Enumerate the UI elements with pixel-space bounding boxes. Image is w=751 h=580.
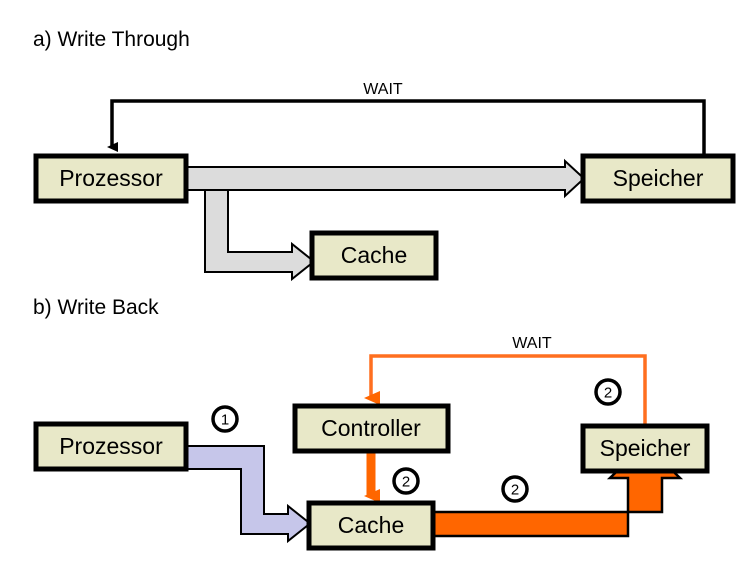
section-a-group: a) Write Through WAIT Prozessor bbox=[33, 28, 733, 279]
wait-a-line bbox=[112, 101, 704, 155]
wait-b-label: WAIT bbox=[512, 335, 552, 352]
prozessor-a-label: Prozessor bbox=[59, 165, 163, 191]
edge-prozessor-to-cache-a bbox=[186, 190, 314, 279]
node-speicher-a[interactable]: Speicher bbox=[583, 156, 733, 201]
cache-b-label: Cache bbox=[338, 512, 404, 538]
controller-b-label: Controller bbox=[321, 415, 421, 441]
node-speicher-b[interactable]: Speicher bbox=[583, 426, 707, 471]
step-2-wait-label: 2 bbox=[604, 385, 612, 402]
step-marker-2-cache-speicher: 2 bbox=[503, 477, 527, 501]
edge-prozessor-to-speicher-a bbox=[186, 161, 584, 196]
lavender-arrow-to-cache bbox=[186, 446, 310, 541]
cache-a-label: Cache bbox=[341, 242, 407, 268]
gray-arrow-to-cache bbox=[186, 190, 314, 279]
speicher-a-label: Speicher bbox=[613, 165, 704, 191]
step-marker-2-wait: 2 bbox=[596, 380, 620, 404]
edge-wait-a: WAIT bbox=[112, 81, 704, 155]
step-2-controller-label: 2 bbox=[402, 474, 410, 491]
node-controller-b[interactable]: Controller bbox=[295, 406, 448, 451]
section-b-title: b) Write Back bbox=[33, 296, 159, 319]
cache-write-policy-diagram: a) Write Through WAIT Prozessor bbox=[0, 0, 751, 580]
step-marker-2-controller: 2 bbox=[394, 469, 418, 493]
diagram-canvas: a) Write Through WAIT Prozessor bbox=[0, 0, 751, 580]
edge-prozessor-to-cache-b bbox=[186, 446, 310, 541]
gray-arrow-to-speicher bbox=[186, 161, 584, 196]
step-2-cache-speicher-label: 2 bbox=[511, 482, 519, 499]
prozessor-b-label: Prozessor bbox=[59, 433, 163, 459]
node-cache-b[interactable]: Cache bbox=[309, 503, 433, 548]
step-1-label: 1 bbox=[221, 412, 229, 429]
node-prozessor-b[interactable]: Prozessor bbox=[36, 424, 186, 469]
step-marker-1: 1 bbox=[213, 407, 237, 431]
node-prozessor-a[interactable]: Prozessor bbox=[36, 156, 186, 201]
section-b-group: b) Write Back WAIT Prozessor bbox=[33, 296, 707, 548]
speicher-b-label: Speicher bbox=[600, 435, 691, 461]
section-a-title: a) Write Through bbox=[33, 28, 190, 51]
wait-a-label: WAIT bbox=[363, 81, 403, 98]
node-cache-a[interactable]: Cache bbox=[312, 233, 436, 278]
